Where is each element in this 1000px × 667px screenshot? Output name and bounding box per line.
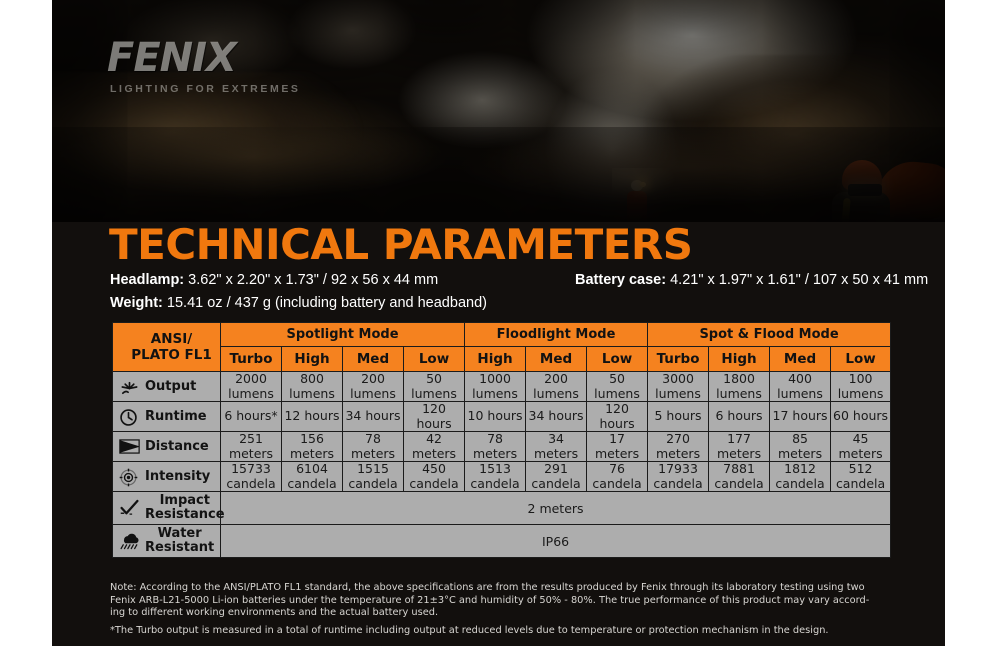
- cell-unit: meters: [831, 447, 890, 462]
- rain-cloud-icon: [119, 532, 139, 550]
- table-row: WaterResistantIP66: [113, 525, 891, 558]
- cell-unit: meters: [343, 447, 403, 462]
- battery-spec: Battery case: 4.21" x 1.97" x 1.61" / 10…: [575, 270, 928, 291]
- cell-r2-c10: 45meters: [831, 432, 891, 462]
- crosshair-icon: [119, 468, 139, 486]
- cell-r2-c7: 270meters: [648, 432, 709, 462]
- mode-header-4: High: [465, 347, 526, 372]
- mode-header-10: Low: [831, 347, 891, 372]
- cell-r1-c7: 5 hours: [648, 402, 709, 432]
- cell-unit: meters: [282, 447, 342, 462]
- cell-r0-c4: 1000lumens: [465, 372, 526, 402]
- logo-wordmark: FENIX: [107, 38, 301, 78]
- cell-unit: candela: [526, 477, 586, 492]
- cell-value: 7881: [709, 462, 769, 477]
- cell-unit: candela: [648, 477, 708, 492]
- cell-value: 1812: [770, 462, 830, 477]
- cell-r3-c9: 1812candela: [770, 462, 831, 492]
- cell-unit: candela: [221, 477, 281, 492]
- headlamp-label: Headlamp:: [110, 272, 184, 288]
- row-label-runtime: Runtime: [113, 402, 221, 432]
- cell-r3-c3: 450candela: [404, 462, 465, 492]
- cell-r0-c1: 800lumens: [282, 372, 343, 402]
- note-line-2: Fenix ARB-L21-5000 Li-ion batteries unde…: [110, 595, 910, 608]
- cell-value: 17: [587, 432, 647, 447]
- cell-value: 177: [709, 432, 769, 447]
- table-row: Distance251meters156meters78meters42mete…: [113, 432, 891, 462]
- full-row-value-1: IP66: [221, 525, 891, 558]
- cell-r1-c5: 34 hours: [526, 402, 587, 432]
- ansi-plato-corner: ANSI/PLATO FL1: [113, 323, 221, 372]
- clock-icon: [119, 408, 139, 426]
- cell-r2-c9: 85meters: [770, 432, 831, 462]
- row-label-output: Output: [113, 372, 221, 402]
- table-row: Output2000lumens800lumens200lumens50lume…: [113, 372, 891, 402]
- cell-value: 1000: [465, 372, 525, 387]
- group-header-2: Spot & Flood Mode: [648, 323, 891, 347]
- cell-value: 42: [404, 432, 464, 447]
- cell-unit: lumens: [343, 387, 403, 402]
- cell-value: 3000: [648, 372, 708, 387]
- cell-unit: candela: [404, 477, 464, 492]
- cell-r3-c10: 512candela: [831, 462, 891, 492]
- headlamp-spec: Headlamp: 3.62" x 2.20" x 1.73" / 92 x 5…: [110, 270, 438, 291]
- cell-value: 512: [831, 462, 890, 477]
- cell-unit: lumens: [770, 387, 830, 402]
- mode-header-1: High: [282, 347, 343, 372]
- cell-r3-c1: 6104candela: [282, 462, 343, 492]
- cell-value: 12 hours: [282, 409, 342, 424]
- cell-value: 800: [282, 372, 342, 387]
- checkmark-icon: [119, 499, 139, 517]
- cell-unit: lumens: [465, 387, 525, 402]
- specs-block: Headlamp: 3.62" x 2.20" x 1.73" / 92 x 5…: [110, 270, 940, 314]
- cell-value: 120 hours: [587, 402, 647, 431]
- row-label-text: Intensity: [145, 470, 210, 484]
- cell-r2-c4: 78meters: [465, 432, 526, 462]
- mode-header-7: Turbo: [648, 347, 709, 372]
- ansi-line-2: PLATO FL1: [131, 347, 212, 363]
- cell-r0-c10: 100lumens: [831, 372, 891, 402]
- cell-unit: candela: [465, 477, 525, 492]
- note-line-4: *The Turbo output is measured in a total…: [110, 625, 910, 638]
- weight-label: Weight:: [110, 295, 163, 311]
- poster-canvas: FENIX LIGHTING FOR EXTREMES TECHNICAL PA…: [52, 0, 945, 646]
- footnote-block: Note: According to the ANSI/PLATO FL1 st…: [110, 582, 910, 637]
- cell-unit: lumens: [526, 387, 586, 402]
- cell-value: 34 hours: [343, 409, 403, 424]
- table-header-groups: ANSI/PLATO FL1Spotlight ModeFloodlight M…: [113, 323, 891, 347]
- cell-value: 78: [465, 432, 525, 447]
- cell-unit: lumens: [221, 387, 281, 402]
- cell-r1-c9: 17 hours: [770, 402, 831, 432]
- cell-unit: candela: [343, 477, 403, 492]
- mode-header-3: Low: [404, 347, 465, 372]
- cell-r3-c4: 1513candela: [465, 462, 526, 492]
- cell-r0-c7: 3000lumens: [648, 372, 709, 402]
- cell-unit: meters: [465, 447, 525, 462]
- weight-value: 15.41 oz / 437 g (including battery and …: [163, 295, 487, 311]
- cell-r0-c2: 200lumens: [343, 372, 404, 402]
- table-header-modes: TurboHighMedLowHighMedLowTurboHighMedLow: [113, 347, 891, 372]
- cell-r3-c8: 7881candela: [709, 462, 770, 492]
- cell-value: 200: [343, 372, 403, 387]
- cell-unit: meters: [770, 447, 830, 462]
- cell-r2-c8: 177meters: [709, 432, 770, 462]
- cell-unit: candela: [709, 477, 769, 492]
- cell-value: 34: [526, 432, 586, 447]
- cell-unit: lumens: [709, 387, 769, 402]
- cell-r2-c1: 156meters: [282, 432, 343, 462]
- cell-unit: candela: [282, 477, 342, 492]
- group-header-0: Spotlight Mode: [221, 323, 465, 347]
- row-label-text: ImpactResistance: [145, 494, 225, 522]
- ansi-line-1: ANSI/: [151, 331, 192, 347]
- cell-value: 251: [221, 432, 281, 447]
- cell-value: 5 hours: [648, 409, 708, 424]
- row-label-text: Runtime: [145, 410, 207, 424]
- row-label-text: WaterResistant: [145, 527, 214, 555]
- cell-value: 10 hours: [465, 409, 525, 424]
- cell-value: 2000: [221, 372, 281, 387]
- cell-value: 100: [831, 372, 890, 387]
- cell-value: 85: [770, 432, 830, 447]
- cell-r1-c1: 12 hours: [282, 402, 343, 432]
- logo-tagline: LIGHTING FOR EXTREMES: [110, 83, 301, 95]
- row-label-intensity: Intensity: [113, 462, 221, 492]
- battery-label: Battery case:: [575, 272, 666, 288]
- cell-unit: lumens: [404, 387, 464, 402]
- cell-unit: candela: [831, 477, 890, 492]
- cell-value: 50: [587, 372, 647, 387]
- cell-unit: lumens: [282, 387, 342, 402]
- cell-value: 6 hours: [709, 409, 769, 424]
- cell-value: 6104: [282, 462, 342, 477]
- cell-value: 6 hours*: [221, 409, 281, 424]
- cave-hero-photo: [52, 0, 945, 222]
- cell-r2-c0: 251meters: [221, 432, 282, 462]
- cell-unit: meters: [709, 447, 769, 462]
- cell-value: 60 hours: [831, 409, 890, 424]
- cell-unit: lumens: [648, 387, 708, 402]
- mode-header-9: Med: [770, 347, 831, 372]
- cell-value: 120 hours: [404, 402, 464, 431]
- light-burst-icon: [119, 378, 139, 396]
- cell-unit: lumens: [831, 387, 890, 402]
- page-title: TECHNICAL PARAMETERS: [109, 222, 693, 268]
- weight-spec: Weight: 15.41 oz / 437 g (including batt…: [110, 293, 940, 314]
- cell-r0-c8: 1800lumens: [709, 372, 770, 402]
- cell-value: 1513: [465, 462, 525, 477]
- cell-r2-c3: 42meters: [404, 432, 465, 462]
- cell-value: 45: [831, 432, 890, 447]
- cell-r2-c5: 34meters: [526, 432, 587, 462]
- cell-unit: candela: [770, 477, 830, 492]
- table-body: ANSI/PLATO FL1Spotlight ModeFloodlight M…: [113, 323, 891, 558]
- cell-r0-c6: 50lumens: [587, 372, 648, 402]
- mode-header-6: Low: [587, 347, 648, 372]
- row-label-text: Output: [145, 380, 196, 394]
- cell-r1-c6: 120 hours: [587, 402, 648, 432]
- cell-value: 1800: [709, 372, 769, 387]
- cell-r2-c6: 17meters: [587, 432, 648, 462]
- cell-value: 50: [404, 372, 464, 387]
- table-row: Runtime6 hours*12 hours34 hours120 hours…: [113, 402, 891, 432]
- mode-header-8: High: [709, 347, 770, 372]
- cell-r0-c3: 50lumens: [404, 372, 465, 402]
- cell-unit: meters: [587, 447, 647, 462]
- battery-value: 4.21" x 1.97" x 1.61" / 107 x 50 x 41 mm: [666, 272, 928, 288]
- cell-value: 400: [770, 372, 830, 387]
- cell-r0-c0: 2000lumens: [221, 372, 282, 402]
- note-line-3: ing to different working environments an…: [110, 607, 910, 620]
- cell-value: 1515: [343, 462, 403, 477]
- cell-value: 270: [648, 432, 708, 447]
- cell-r1-c4: 10 hours: [465, 402, 526, 432]
- cell-value: 17 hours: [770, 409, 830, 424]
- cell-unit: meters: [526, 447, 586, 462]
- cell-r3-c0: 15733candela: [221, 462, 282, 492]
- full-row-value-0: 2 meters: [221, 492, 891, 525]
- cell-value: 156: [282, 432, 342, 447]
- row-label-water: WaterResistant: [113, 525, 221, 558]
- cell-r1-c8: 6 hours: [709, 402, 770, 432]
- cell-r0-c9: 400lumens: [770, 372, 831, 402]
- cell-r1-c2: 34 hours: [343, 402, 404, 432]
- cell-r3-c5: 291candela: [526, 462, 587, 492]
- row-label-distance: Distance: [113, 432, 221, 462]
- group-header-1: Floodlight Mode: [465, 323, 648, 347]
- cell-value: 17933: [648, 462, 708, 477]
- cell-r3-c7: 17933candela: [648, 462, 709, 492]
- cell-unit: meters: [648, 447, 708, 462]
- cell-value: 78: [343, 432, 403, 447]
- technical-parameters-table: ANSI/PLATO FL1Spotlight ModeFloodlight M…: [112, 322, 891, 558]
- fenix-logo: FENIX LIGHTING FOR EXTREMES: [107, 38, 301, 95]
- cell-r3-c6: 76candela: [587, 462, 648, 492]
- table-row: ImpactResistance2 meters: [113, 492, 891, 525]
- cell-value: 34 hours: [526, 409, 586, 424]
- cell-unit: meters: [404, 447, 464, 462]
- cell-r0-c5: 200lumens: [526, 372, 587, 402]
- mode-header-5: Med: [526, 347, 587, 372]
- cell-r3-c2: 1515candela: [343, 462, 404, 492]
- cell-unit: lumens: [587, 387, 647, 402]
- cell-value: 200: [526, 372, 586, 387]
- cell-r1-c3: 120 hours: [404, 402, 465, 432]
- headlamp-value: 3.62" x 2.20" x 1.73" / 92 x 56 x 44 mm: [184, 272, 438, 288]
- beam-cone-icon: [119, 438, 139, 456]
- cell-unit: meters: [221, 447, 281, 462]
- photo-vignette: [52, 0, 945, 222]
- cell-value: 76: [587, 462, 647, 477]
- note-line-1: Note: According to the ANSI/PLATO FL1 st…: [110, 582, 910, 595]
- cell-value: 291: [526, 462, 586, 477]
- cell-value: 15733: [221, 462, 281, 477]
- row-label-text: Distance: [145, 440, 209, 454]
- cell-value: 450: [404, 462, 464, 477]
- row-label-impact: ImpactResistance: [113, 492, 221, 525]
- table-row: Intensity15733candela6104candela1515cand…: [113, 462, 891, 492]
- mode-header-2: Med: [343, 347, 404, 372]
- mode-header-0: Turbo: [221, 347, 282, 372]
- cell-r1-c10: 60 hours: [831, 402, 891, 432]
- cell-r1-c0: 6 hours*: [221, 402, 282, 432]
- cell-unit: candela: [587, 477, 647, 492]
- cell-r2-c2: 78meters: [343, 432, 404, 462]
